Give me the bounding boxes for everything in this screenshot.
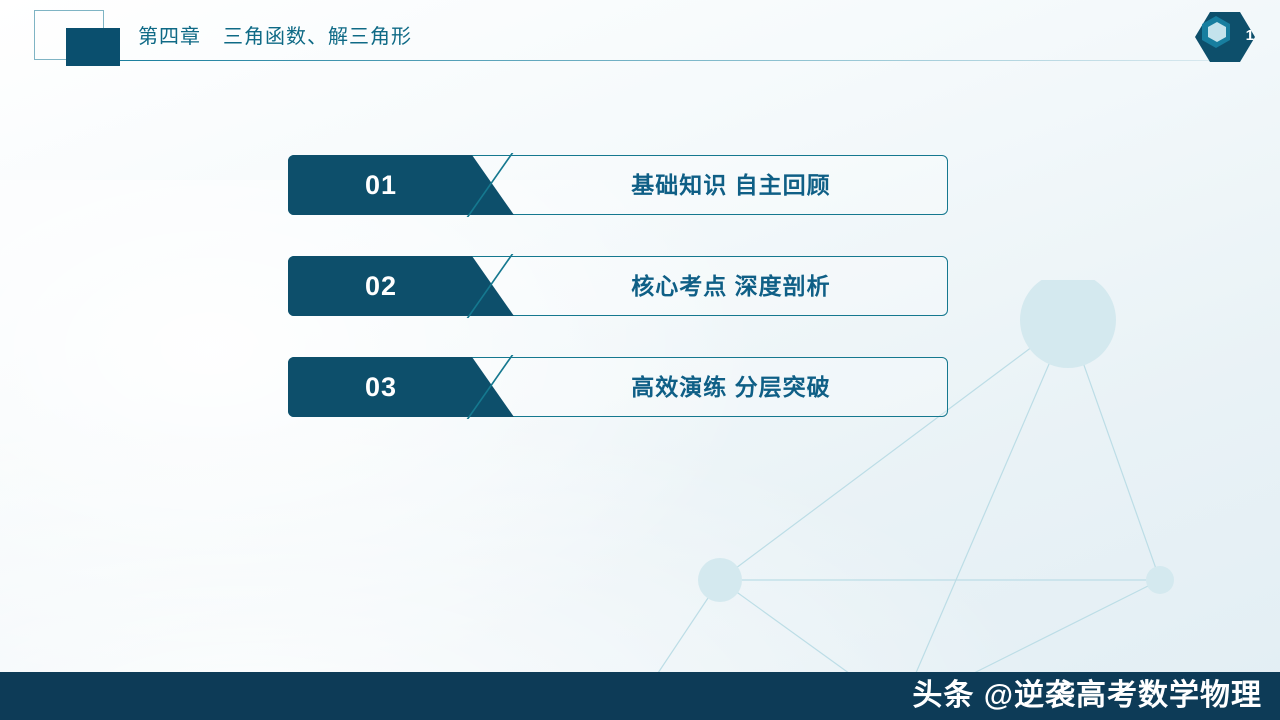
- section-number: 03: [288, 357, 474, 417]
- slide-header: 第四章三角函数、解三角形 1: [0, 0, 1280, 74]
- section-number-block: 02: [288, 256, 514, 316]
- header-solid-square: [66, 28, 120, 66]
- section-number-block: 01: [288, 155, 514, 215]
- page-number: 1: [1246, 27, 1254, 44]
- section-row-03[interactable]: 03 高效演练 分层突破: [288, 357, 950, 419]
- footer-bar: 头条 @逆袭高考数学物理: [0, 672, 1280, 720]
- watermark-brand: 头条: [912, 679, 974, 712]
- chapter-number: 第四章: [138, 26, 201, 48]
- section-label: 基础知识 自主回顾: [514, 155, 948, 215]
- section-row-01[interactable]: 01 基础知识 自主回顾: [288, 155, 950, 217]
- section-label: 核心考点 深度剖析: [514, 256, 948, 316]
- page-title: 第四章三角函数、解三角形: [138, 20, 412, 49]
- header-divider: [120, 60, 1210, 61]
- chapter-title: 三角函数、解三角形: [223, 26, 412, 48]
- slide: 第四章三角函数、解三角形 1 01 基础知识 自主回顾 02: [0, 0, 1280, 720]
- section-list: 01 基础知识 自主回顾 02 核心考点 深度剖析 03 高效演练 分层突破: [288, 155, 950, 458]
- section-number-block: 03: [288, 357, 514, 417]
- watermark-account: @逆袭高考数学物理: [984, 679, 1262, 712]
- section-number: 02: [288, 256, 474, 316]
- watermark: 头条 @逆袭高考数学物理: [912, 670, 1262, 714]
- section-number: 01: [288, 155, 474, 215]
- section-label: 高效演练 分层突破: [514, 357, 948, 417]
- section-row-02[interactable]: 02 核心考点 深度剖析: [288, 256, 950, 318]
